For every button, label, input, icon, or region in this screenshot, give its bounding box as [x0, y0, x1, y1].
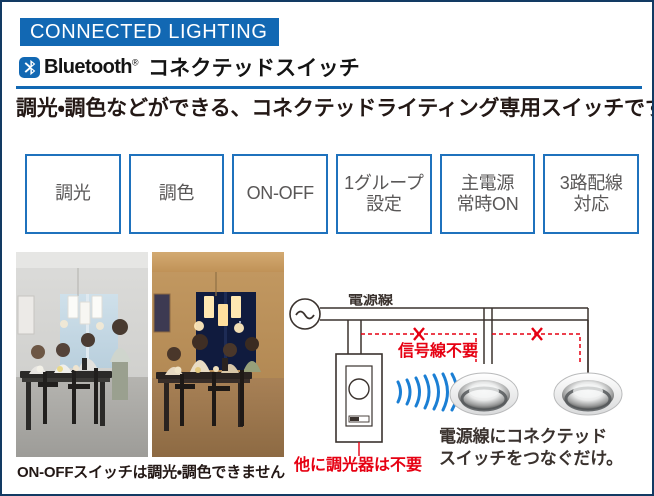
connect-note-line2: スイッチをつなぐだけ。 — [439, 448, 623, 470]
feature-box-dimming: 調光 — [25, 154, 121, 234]
banner-label: CONNECTED LIGHTING — [30, 21, 267, 44]
feature-box-one-group-setting: 1グループ 設定 — [336, 154, 432, 234]
feature-label: 3路配線 — [560, 173, 623, 194]
photo-caption: ON-OFFスイッチは調光・調色できません — [17, 461, 285, 482]
no-signal-line-label: 信号線不要 — [397, 341, 478, 360]
feature-box-color-tuning: 調色 — [129, 154, 225, 234]
feature-label: ON-OFF — [247, 183, 314, 204]
feature-label-line2: 常時ON — [457, 194, 519, 215]
bluetooth-icon — [19, 57, 40, 78]
evening-dining-room-photo — [152, 252, 284, 457]
bluetooth-wordmark: Bluetooth® — [44, 56, 138, 79]
feature-label: 主電源 — [461, 173, 514, 194]
ac-power-source-symbol — [290, 299, 320, 329]
feature-box-three-way-wiring: 3路配線 対応 — [543, 154, 639, 234]
x-mark-right-icon — [532, 328, 542, 340]
feature-box-row: 調光 調色 ON-OFF 1グループ 設定 主電源 常時ON 3路配線 対応 — [25, 154, 639, 234]
downlight-fixture-1 — [450, 373, 518, 415]
feature-label-line2: 設定 — [366, 194, 401, 215]
bluetooth-product-line: Bluetooth® コネクテッドスイッチ — [19, 52, 360, 82]
connect-note-line1: 電源線にコネクテッド — [439, 426, 623, 448]
product-name: コネクテッドスイッチ — [148, 52, 360, 82]
section-banner: CONNECTED LIGHTING — [20, 18, 279, 46]
feature-label-line2: 対応 — [573, 194, 608, 215]
header-divider — [16, 86, 642, 89]
lead-text: 調光・調色などができる、コネクテッドライティング専用スイッチです。 — [16, 92, 646, 122]
x-mark-left-icon — [414, 328, 424, 340]
daytime-dining-room-photo — [16, 252, 148, 457]
no-other-dimmer-label: 他に調光器は不要 — [293, 455, 422, 474]
connect-note: 電源線にコネクテッド スイッチをつなぐだけ。 — [439, 426, 623, 470]
connected-lighting-product-card: CONNECTED LIGHTING Bluetooth® コネクテッドスイッチ… — [0, 0, 654, 496]
downlight-fixture-2 — [554, 373, 622, 415]
power-line-label: 電源線 — [348, 294, 394, 308]
registered-mark: ® — [132, 57, 138, 67]
feature-label: 調光 — [55, 183, 90, 204]
connected-switch-device — [336, 354, 382, 442]
feature-box-main-power-always-on: 主電源 常時ON — [440, 154, 536, 234]
feature-box-on-off: ON-OFF — [232, 154, 328, 234]
feature-label: 調色 — [159, 183, 194, 204]
unneeded-signal-line-right — [492, 334, 580, 362]
feature-label: 1グループ — [344, 173, 423, 194]
bluetooth-signal-waves-icon — [398, 374, 457, 410]
